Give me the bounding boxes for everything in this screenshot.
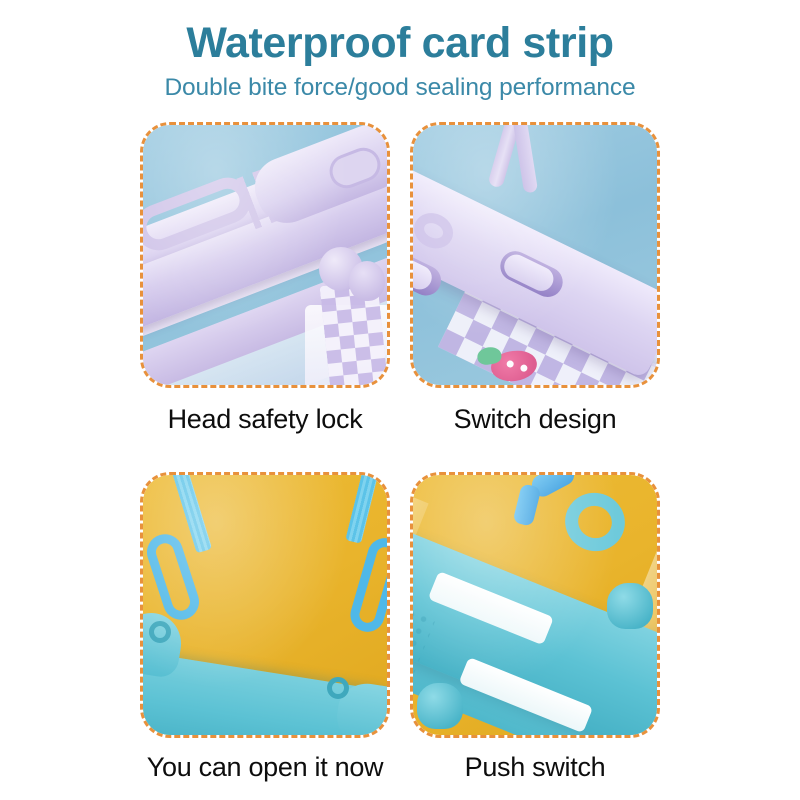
feature-caption: You can open it now xyxy=(140,750,390,784)
strip-eyelet-left xyxy=(149,621,171,643)
feature-cell-you-can-open-it-now: You can open it now xyxy=(140,472,390,784)
end-knob-secondary xyxy=(349,261,385,301)
photo-scene-head-safety-lock xyxy=(143,125,387,385)
photo-scene-push-switch xyxy=(413,475,657,735)
feature-caption: Head safety lock xyxy=(140,402,390,436)
switch-pad xyxy=(413,249,436,293)
feature-photo-switch-design xyxy=(410,122,660,388)
page-subtitle: Double bite force/good sealing performan… xyxy=(0,74,800,102)
feature-grid: Head safety lock xyxy=(140,122,660,738)
feature-caption: Switch design xyxy=(410,402,660,436)
page-title: Waterproof card strip xyxy=(0,18,800,68)
strip-eyelet-right xyxy=(327,677,349,699)
strawberry-dot xyxy=(520,364,528,372)
header: Waterproof card strip Double bite force/… xyxy=(0,18,800,102)
feature-photo-head-safety-lock xyxy=(140,122,390,388)
push-switch-knob-right xyxy=(607,583,653,629)
infographic-page: Waterproof card strip Double bite force/… xyxy=(0,0,800,800)
strawberry-dot xyxy=(506,360,514,368)
photo-scene-switch-design xyxy=(413,125,657,385)
switch-slot-upper xyxy=(495,246,567,302)
feature-photo-push-switch xyxy=(410,472,660,738)
push-switch-knob-left xyxy=(417,683,463,729)
feature-cell-push-switch: Push switch xyxy=(410,472,660,784)
feature-cell-switch-design: Switch design xyxy=(410,122,660,436)
photo-scene-you-can-open-it-now xyxy=(143,475,387,735)
feature-cell-head-safety-lock: Head safety lock xyxy=(140,122,390,436)
lanyard-loop-hole xyxy=(413,207,459,255)
feature-photo-you-can-open-it-now xyxy=(140,472,390,738)
switch-pad xyxy=(500,251,557,295)
feature-caption: Push switch xyxy=(410,750,660,784)
